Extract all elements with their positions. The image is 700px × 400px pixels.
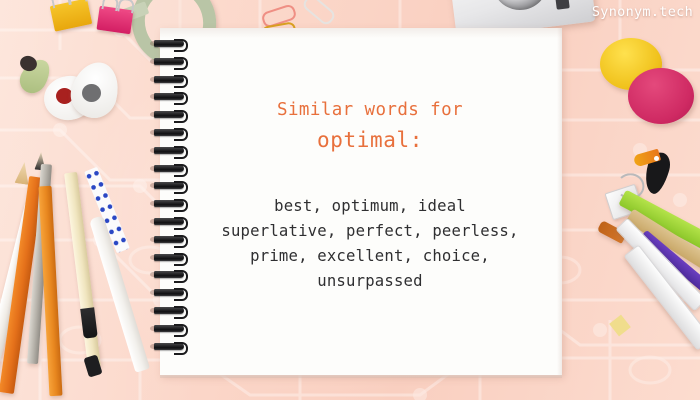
camera-button-icon: [555, 0, 569, 10]
spiral-binding: [150, 40, 192, 362]
spiral-wire: [154, 111, 184, 118]
notepad-content: Similar words for optimal: best, optimum…: [190, 28, 550, 294]
spiral-wire: [154, 236, 184, 243]
spiral-wire: [154, 307, 184, 314]
spiral-ring: [150, 165, 188, 172]
synonym-line: best, optimum, ideal: [190, 194, 550, 219]
spiral-wire: [154, 254, 184, 261]
headword: optimal:: [190, 128, 550, 152]
spiral-wire: [154, 289, 184, 296]
screenshot-root: Similar words for optimal: best, optimum…: [0, 0, 700, 400]
spiral-ring: [150, 76, 188, 83]
synonym-line: superlative, perfect, peerless,: [190, 219, 550, 244]
spiral-ring: [150, 218, 188, 225]
macaron-pink-icon: [628, 68, 694, 124]
spiral-ring: [150, 147, 188, 154]
spiral-wire: [154, 40, 184, 47]
spiral-ring: [150, 307, 188, 314]
spiral-ring: [150, 325, 188, 332]
spiral-wire: [154, 147, 184, 154]
spiral-wire: [154, 325, 184, 332]
spiral-ring: [150, 182, 188, 189]
spiral-wire: [154, 58, 184, 65]
spiral-ring: [150, 129, 188, 136]
spiral-wire: [154, 271, 184, 278]
spiral-ring: [150, 40, 188, 47]
spiral-ring: [150, 200, 188, 207]
spiral-ring: [150, 343, 188, 350]
spiral-ring: [150, 289, 188, 296]
spiral-wire: [154, 343, 184, 350]
spiral-ring: [150, 58, 188, 65]
page-title: Similar words for: [190, 100, 550, 120]
spiral-wire: [154, 76, 184, 83]
toucan-eye-icon: [654, 156, 659, 161]
binder-clip-pink-icon: [96, 6, 133, 34]
spiral-ring: [150, 111, 188, 118]
synonym-list: best, optimum, idealsuperlative, perfect…: [190, 194, 550, 294]
eraser-gray-dot-icon: [82, 84, 101, 102]
spiral-wire: [154, 182, 184, 189]
paper-bottom-edge: [160, 375, 562, 378]
spiral-ring: [150, 93, 188, 100]
synonym-line: prime, excellent, choice,: [190, 244, 550, 269]
spiral-wire: [154, 165, 184, 172]
synonym-line: unsurpassed: [190, 269, 550, 294]
spiral-wire: [154, 218, 184, 225]
spiral-wire: [154, 93, 184, 100]
spiral-ring: [150, 254, 188, 261]
spiral-wire: [154, 129, 184, 136]
spiral-ring: [150, 271, 188, 278]
spiral-ring: [150, 236, 188, 243]
brand-watermark: Synonym.tech: [592, 4, 693, 20]
spiral-wire: [154, 200, 184, 207]
